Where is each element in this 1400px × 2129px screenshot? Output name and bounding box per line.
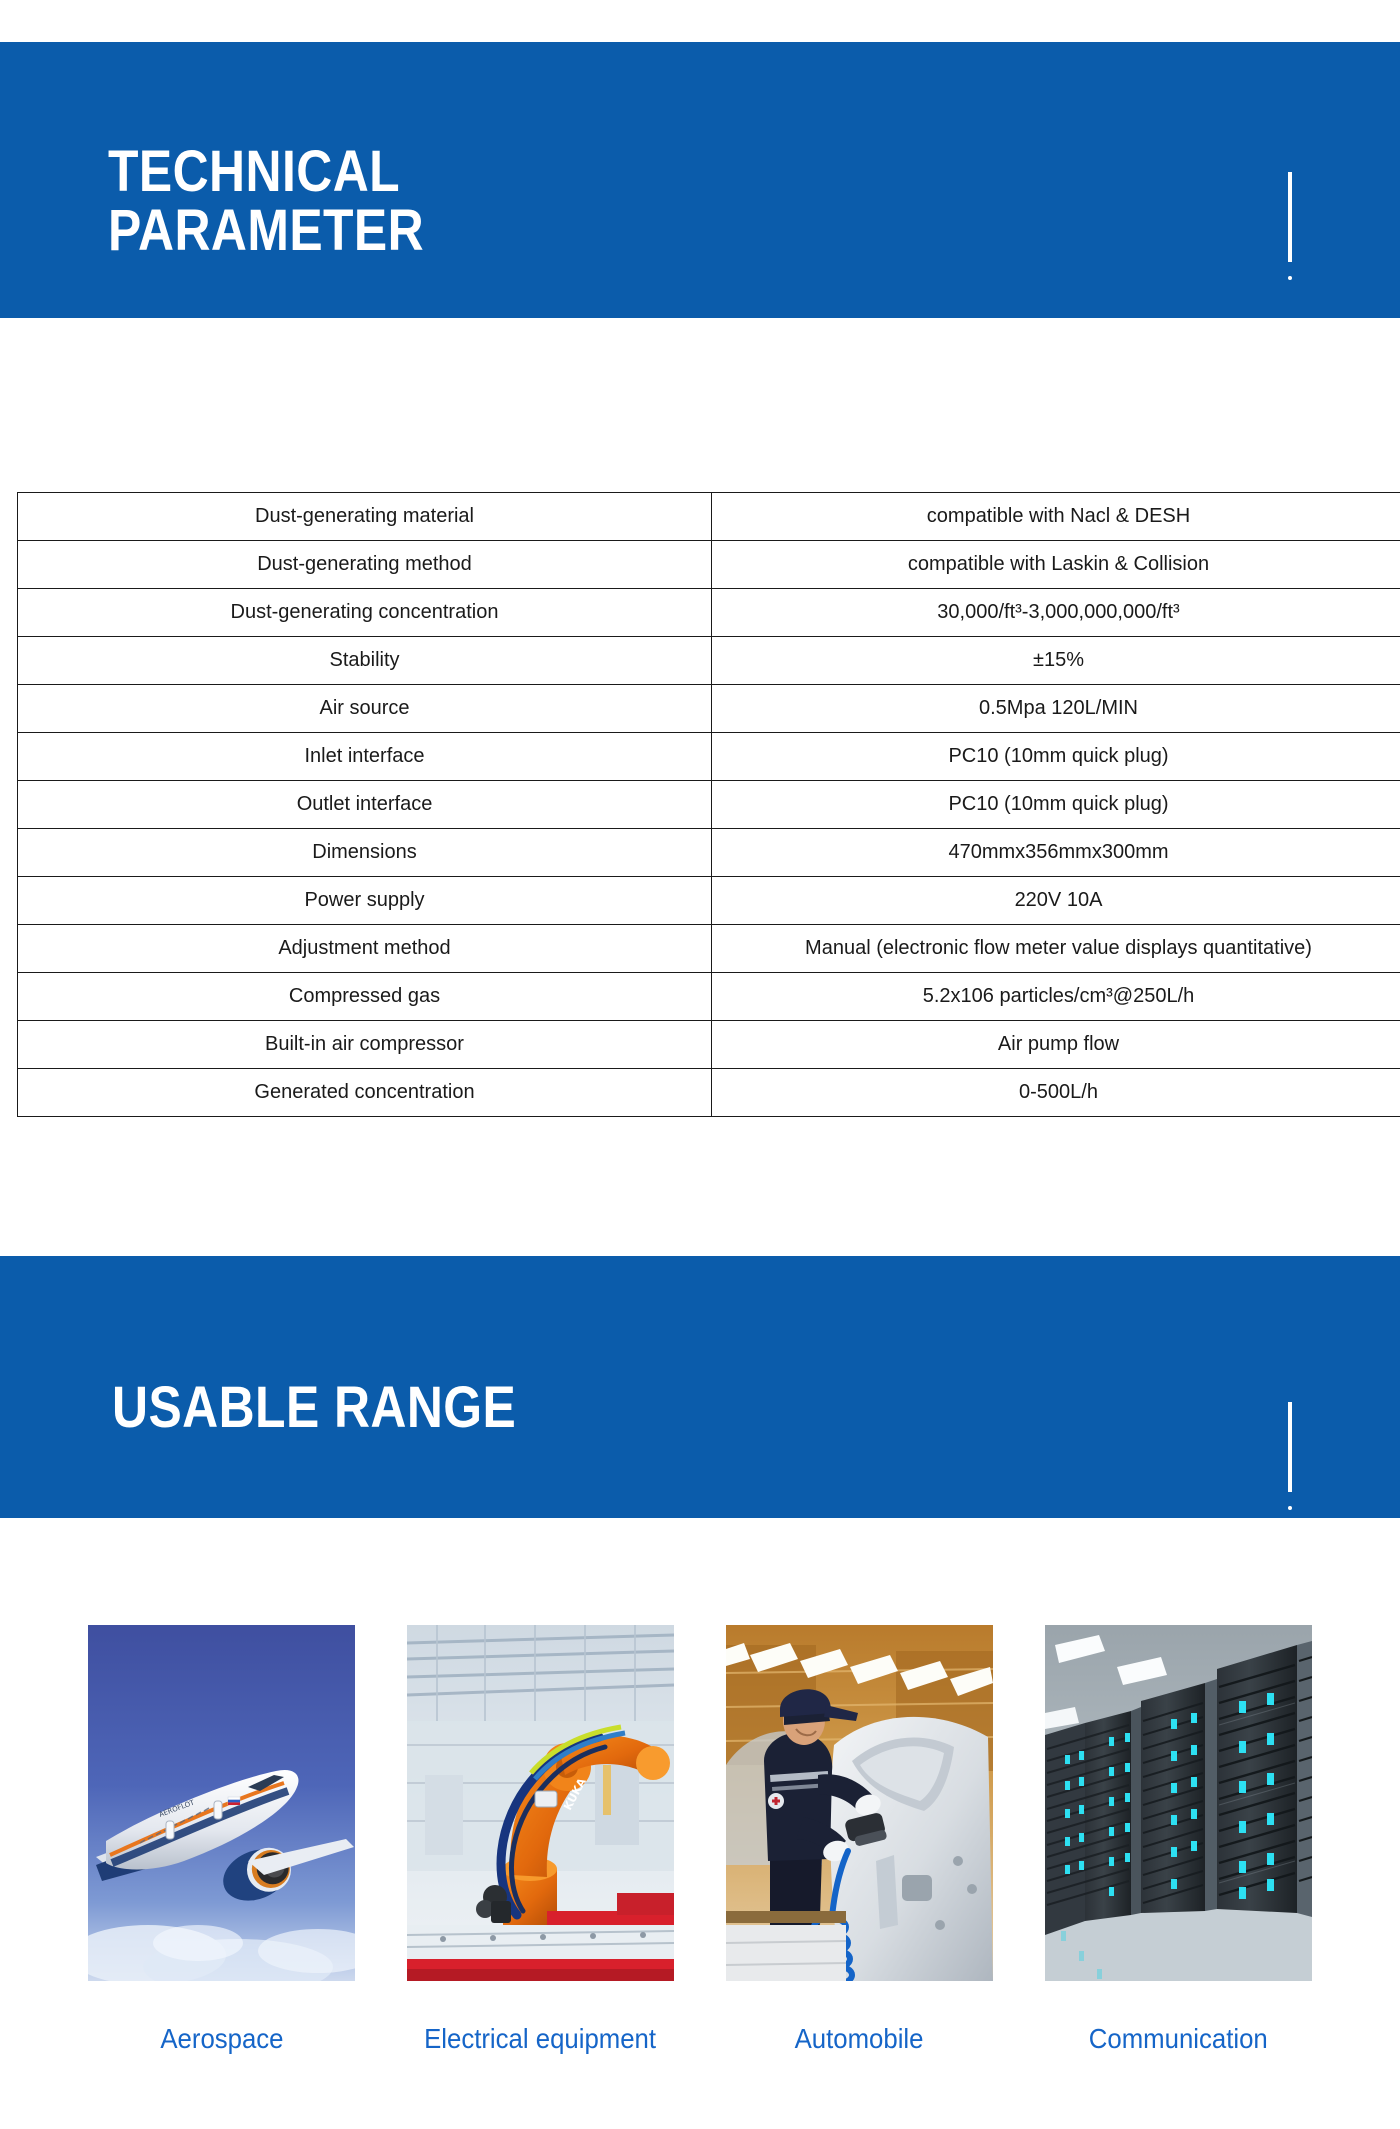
gallery-item-aerospace[interactable]: AEROFLOT Aerospace [88, 1625, 355, 2055]
table-row: Dimensions 470mmx356mmx300mm [18, 829, 1400, 877]
param-name-cell: Air source [18, 685, 712, 733]
param-value-cell: 30,000/ft³-3,000,000,000/ft³ [712, 589, 1400, 637]
table-row: Outlet interface PC10 (10mm quick plug) [18, 781, 1400, 829]
usable-range-banner: USABLE RANGE [0, 1256, 1400, 1518]
table-row: Stability ±15% [18, 637, 1400, 685]
table-row: Power supply 220V 10A [18, 877, 1400, 925]
param-value-cell: 0.5Mpa 120L/MIN [712, 685, 1400, 733]
param-value-cell: 0-500L/h [712, 1069, 1400, 1117]
param-value-cell: compatible with Laskin & Collision [712, 541, 1400, 589]
accent-dot [1288, 1506, 1292, 1510]
accent-bar [1288, 172, 1292, 262]
param-value-cell: PC10 (10mm quick plug) [712, 733, 1400, 781]
param-name-cell: Adjustment method [18, 925, 712, 973]
industrial-robot-arm-photo[interactable]: KUKA [407, 1625, 674, 1981]
table-row: Compressed gas 5.2x106 particles/cm³@250… [18, 973, 1400, 1021]
param-value-cell: PC10 (10mm quick plug) [712, 781, 1400, 829]
param-value-cell: 220V 10A [712, 877, 1400, 925]
param-name-cell: Built-in air compressor [18, 1021, 712, 1069]
table-row: Generated concentration 0-500L/h [18, 1069, 1400, 1117]
param-name-cell: Dust-generating concentration [18, 589, 712, 637]
param-value-cell: ±15% [712, 637, 1400, 685]
banner-accent-mark-icon [1288, 172, 1292, 282]
accent-bar [1288, 1402, 1292, 1492]
banner-accent-mark-icon [1288, 1402, 1292, 1512]
gallery-caption-electrical-equipment: Electrical equipment [425, 2023, 657, 2055]
table-row: Air source 0.5Mpa 120L/MIN [18, 685, 1400, 733]
technical-parameter-title: TECHNICAL PARAMETER [108, 142, 424, 260]
table-row: Adjustment method Manual (electronic flo… [18, 925, 1400, 973]
gallery-caption-aerospace: Aerospace [160, 2023, 283, 2055]
car-body-assembly-worker-photo[interactable] [726, 1625, 993, 1981]
table-row: Dust-generating concentration 30,000/ft³… [18, 589, 1400, 637]
param-name-cell: Dimensions [18, 829, 712, 877]
accent-dot [1288, 276, 1292, 280]
param-name-cell: Power supply [18, 877, 712, 925]
param-value-cell: 5.2x106 particles/cm³@250L/h [712, 973, 1400, 1021]
param-name-cell: Dust-generating material [18, 493, 712, 541]
param-name-cell: Compressed gas [18, 973, 712, 1021]
table-row: Dust-generating material compatible with… [18, 493, 1400, 541]
airplane-in-sky-photo[interactable]: AEROFLOT [88, 1625, 355, 1981]
param-value-cell: Air pump flow [712, 1021, 1400, 1069]
gallery-item-electrical-equipment[interactable]: KUKA [407, 1625, 674, 2055]
param-name-cell: Generated concentration [18, 1069, 712, 1117]
table-row: Dust-generating method compatible with L… [18, 541, 1400, 589]
server-racks-datacenter-photo[interactable] [1045, 1625, 1312, 1981]
usable-range-title: USABLE RANGE [112, 1378, 516, 1437]
gallery-item-communication[interactable]: Communication [1045, 1625, 1312, 2055]
technical-parameter-table: Dust-generating material compatible with… [17, 492, 1400, 1117]
usable-range-gallery: AEROFLOT Aerospace [0, 1625, 1400, 2045]
table-row: Inlet interface PC10 (10mm quick plug) [18, 733, 1400, 781]
param-name-cell: Inlet interface [18, 733, 712, 781]
param-name-cell: Outlet interface [18, 781, 712, 829]
param-value-cell: 470mmx356mmx300mm [712, 829, 1400, 877]
gallery-item-automobile[interactable]: Automobile [726, 1625, 993, 2055]
gallery-caption-automobile: Automobile [795, 2023, 924, 2055]
gallery-caption-communication: Communication [1089, 2023, 1268, 2055]
param-value-cell: compatible with Nacl & DESH [712, 493, 1400, 541]
param-value-cell: Manual (electronic flow meter value disp… [712, 925, 1400, 973]
table-body: Dust-generating material compatible with… [18, 493, 1400, 1117]
technical-parameter-banner: TECHNICAL PARAMETER [0, 42, 1400, 318]
param-name-cell: Stability [18, 637, 712, 685]
table-row: Built-in air compressor Air pump flow [18, 1021, 1400, 1069]
param-name-cell: Dust-generating method [18, 541, 712, 589]
